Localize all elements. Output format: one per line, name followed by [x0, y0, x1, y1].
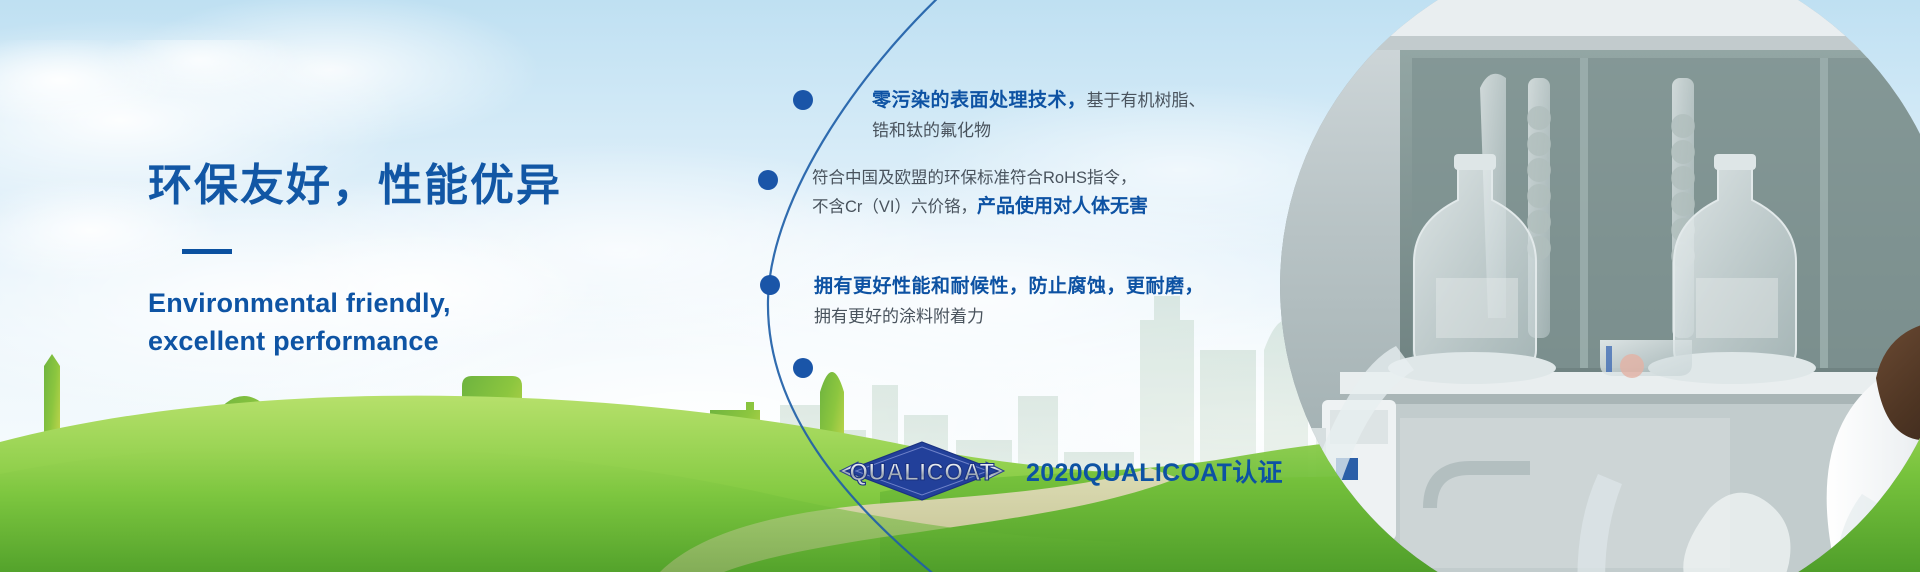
feature-1-line-2: 锆和钛的氟化物 — [872, 117, 1206, 145]
bullet-dot-2 — [758, 170, 778, 190]
title-divider — [182, 249, 232, 254]
feature-zero-pollution: 零污染的表面处理技术，基于有机树脂、 锆和钛的氟化物 — [872, 86, 1206, 144]
page-title-en-line2: excellent performance — [148, 322, 708, 360]
qualicoat-logo-icon: QUALICOAT — [832, 440, 1012, 502]
feature-1-bold: 零污染的表面处理技术， — [872, 90, 1087, 111]
feature-3-bold: 拥有更好性能和耐候性，防止腐蚀，更耐磨， — [814, 276, 1204, 297]
certification-row: QUALICOAT 2020QUALICOAT认证 — [832, 440, 1283, 502]
headline-block: 环保友好，性能优异 Environmental friendly, excell… — [148, 160, 708, 360]
qualicoat-wordmark: QUALICOAT — [849, 459, 994, 486]
page-title-en-line1: Environmental friendly, — [148, 284, 708, 322]
promo-banner: 环保友好，性能优异 Environmental friendly, excell… — [0, 0, 1920, 572]
feature-1-line-1: 零污染的表面处理技术，基于有机树脂、 — [872, 86, 1206, 117]
feature-2-rest: 不含Cr（VI）六价铬， — [812, 198, 977, 216]
feature-rohs: 符合中国及欧盟的环保标准符合RoHS指令， 不含Cr（VI）六价铬，产品使用对人… — [812, 165, 1148, 222]
feature-performance: 拥有更好性能和耐候性，防止腐蚀，更耐磨， 拥有更好的涂料附着力 — [814, 272, 1204, 330]
bullet-dot-3 — [760, 275, 780, 295]
feature-3-line-1: 拥有更好性能和耐候性，防止腐蚀，更耐磨， — [814, 272, 1204, 303]
certification-label: 2020QUALICOAT认证 — [1026, 453, 1283, 489]
bullet-dot-4 — [793, 358, 813, 378]
bullet-dot-1 — [793, 90, 813, 110]
feature-1-rest: 基于有机树脂、 — [1087, 91, 1206, 110]
feature-2-line-1: 符合中国及欧盟的环保标准符合RoHS指令， — [812, 165, 1148, 192]
page-title-cn: 环保友好，性能优异 — [148, 160, 708, 213]
lab-photo — [1280, 0, 1920, 572]
lab-photo-container — [1280, 0, 1920, 572]
feature-3-line-2: 拥有更好的涂料附着力 — [814, 303, 1204, 331]
feature-2-bold: 产品使用对人体无害 — [977, 196, 1148, 217]
lab-photo-circle — [1280, 0, 1920, 572]
feature-2-line-2: 不含Cr（VI）六价铬，产品使用对人体无害 — [812, 192, 1148, 223]
page-title-en: Environmental friendly, excellent perfor… — [148, 284, 708, 361]
